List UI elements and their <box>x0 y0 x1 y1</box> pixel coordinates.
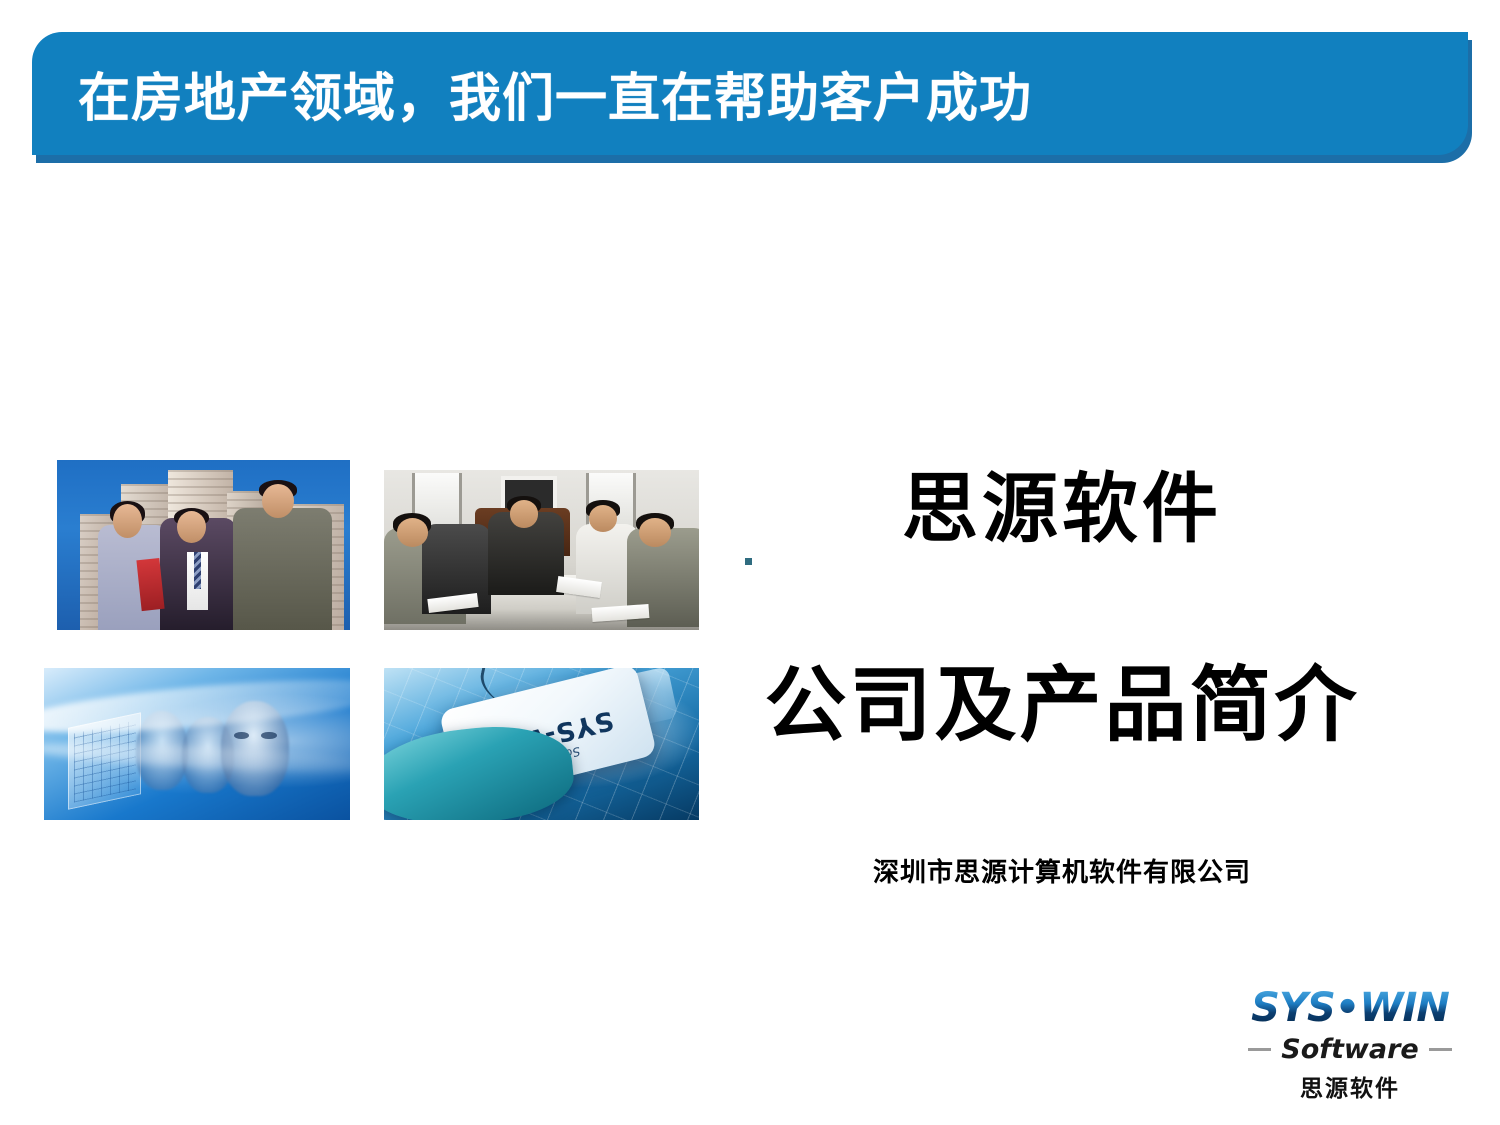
head-attendee-1 <box>397 518 429 547</box>
main-subtitle: 公司及产品简介 <box>742 638 1382 757</box>
photo-meeting <box>384 470 699 630</box>
head-man-right <box>262 484 294 518</box>
photo-faces-blue <box>44 668 350 820</box>
head-attendee-5 <box>639 518 671 547</box>
logo-rule-left <box>1248 1048 1271 1051</box>
main-title: 思源软件 <box>762 447 1362 557</box>
head-woman <box>113 504 142 538</box>
header-banner: 在房地产领域，我们一直在帮助客户成功 <box>32 32 1468 155</box>
photo-keyboard-syswin: SYS-WIN Software <box>384 668 699 820</box>
brand-logo: SYS•WIN Software 思源软件 <box>1248 988 1452 1103</box>
logo-rule-right <box>1429 1048 1452 1051</box>
stray-dot-marker <box>745 558 752 565</box>
logo-software-text: Software <box>1281 1034 1418 1065</box>
page-title: 在房地产领域，我们一直在帮助客户成功 <box>78 56 1032 131</box>
person-man-right <box>233 508 333 630</box>
photo-faces-blue-content <box>44 668 350 820</box>
photo-meeting-content <box>384 470 699 630</box>
photo-business-trio-content <box>57 460 350 630</box>
photo-keyboard-content: SYS-WIN Software <box>384 668 699 820</box>
logo-software-row: Software <box>1248 1034 1452 1065</box>
photo-business-trio <box>57 460 350 630</box>
company-name: 深圳市思源计算机软件有限公司 <box>742 852 1382 889</box>
slide-root: 在房地产领域，我们一直在帮助客户成功 <box>0 0 1500 1125</box>
logo-chinese-name: 思源软件 <box>1248 1069 1452 1103</box>
head-attendee-3 <box>510 500 538 527</box>
logo-wordmark-syswin: SYS•WIN <box>1248 988 1452 1028</box>
striped-tie <box>194 552 201 589</box>
